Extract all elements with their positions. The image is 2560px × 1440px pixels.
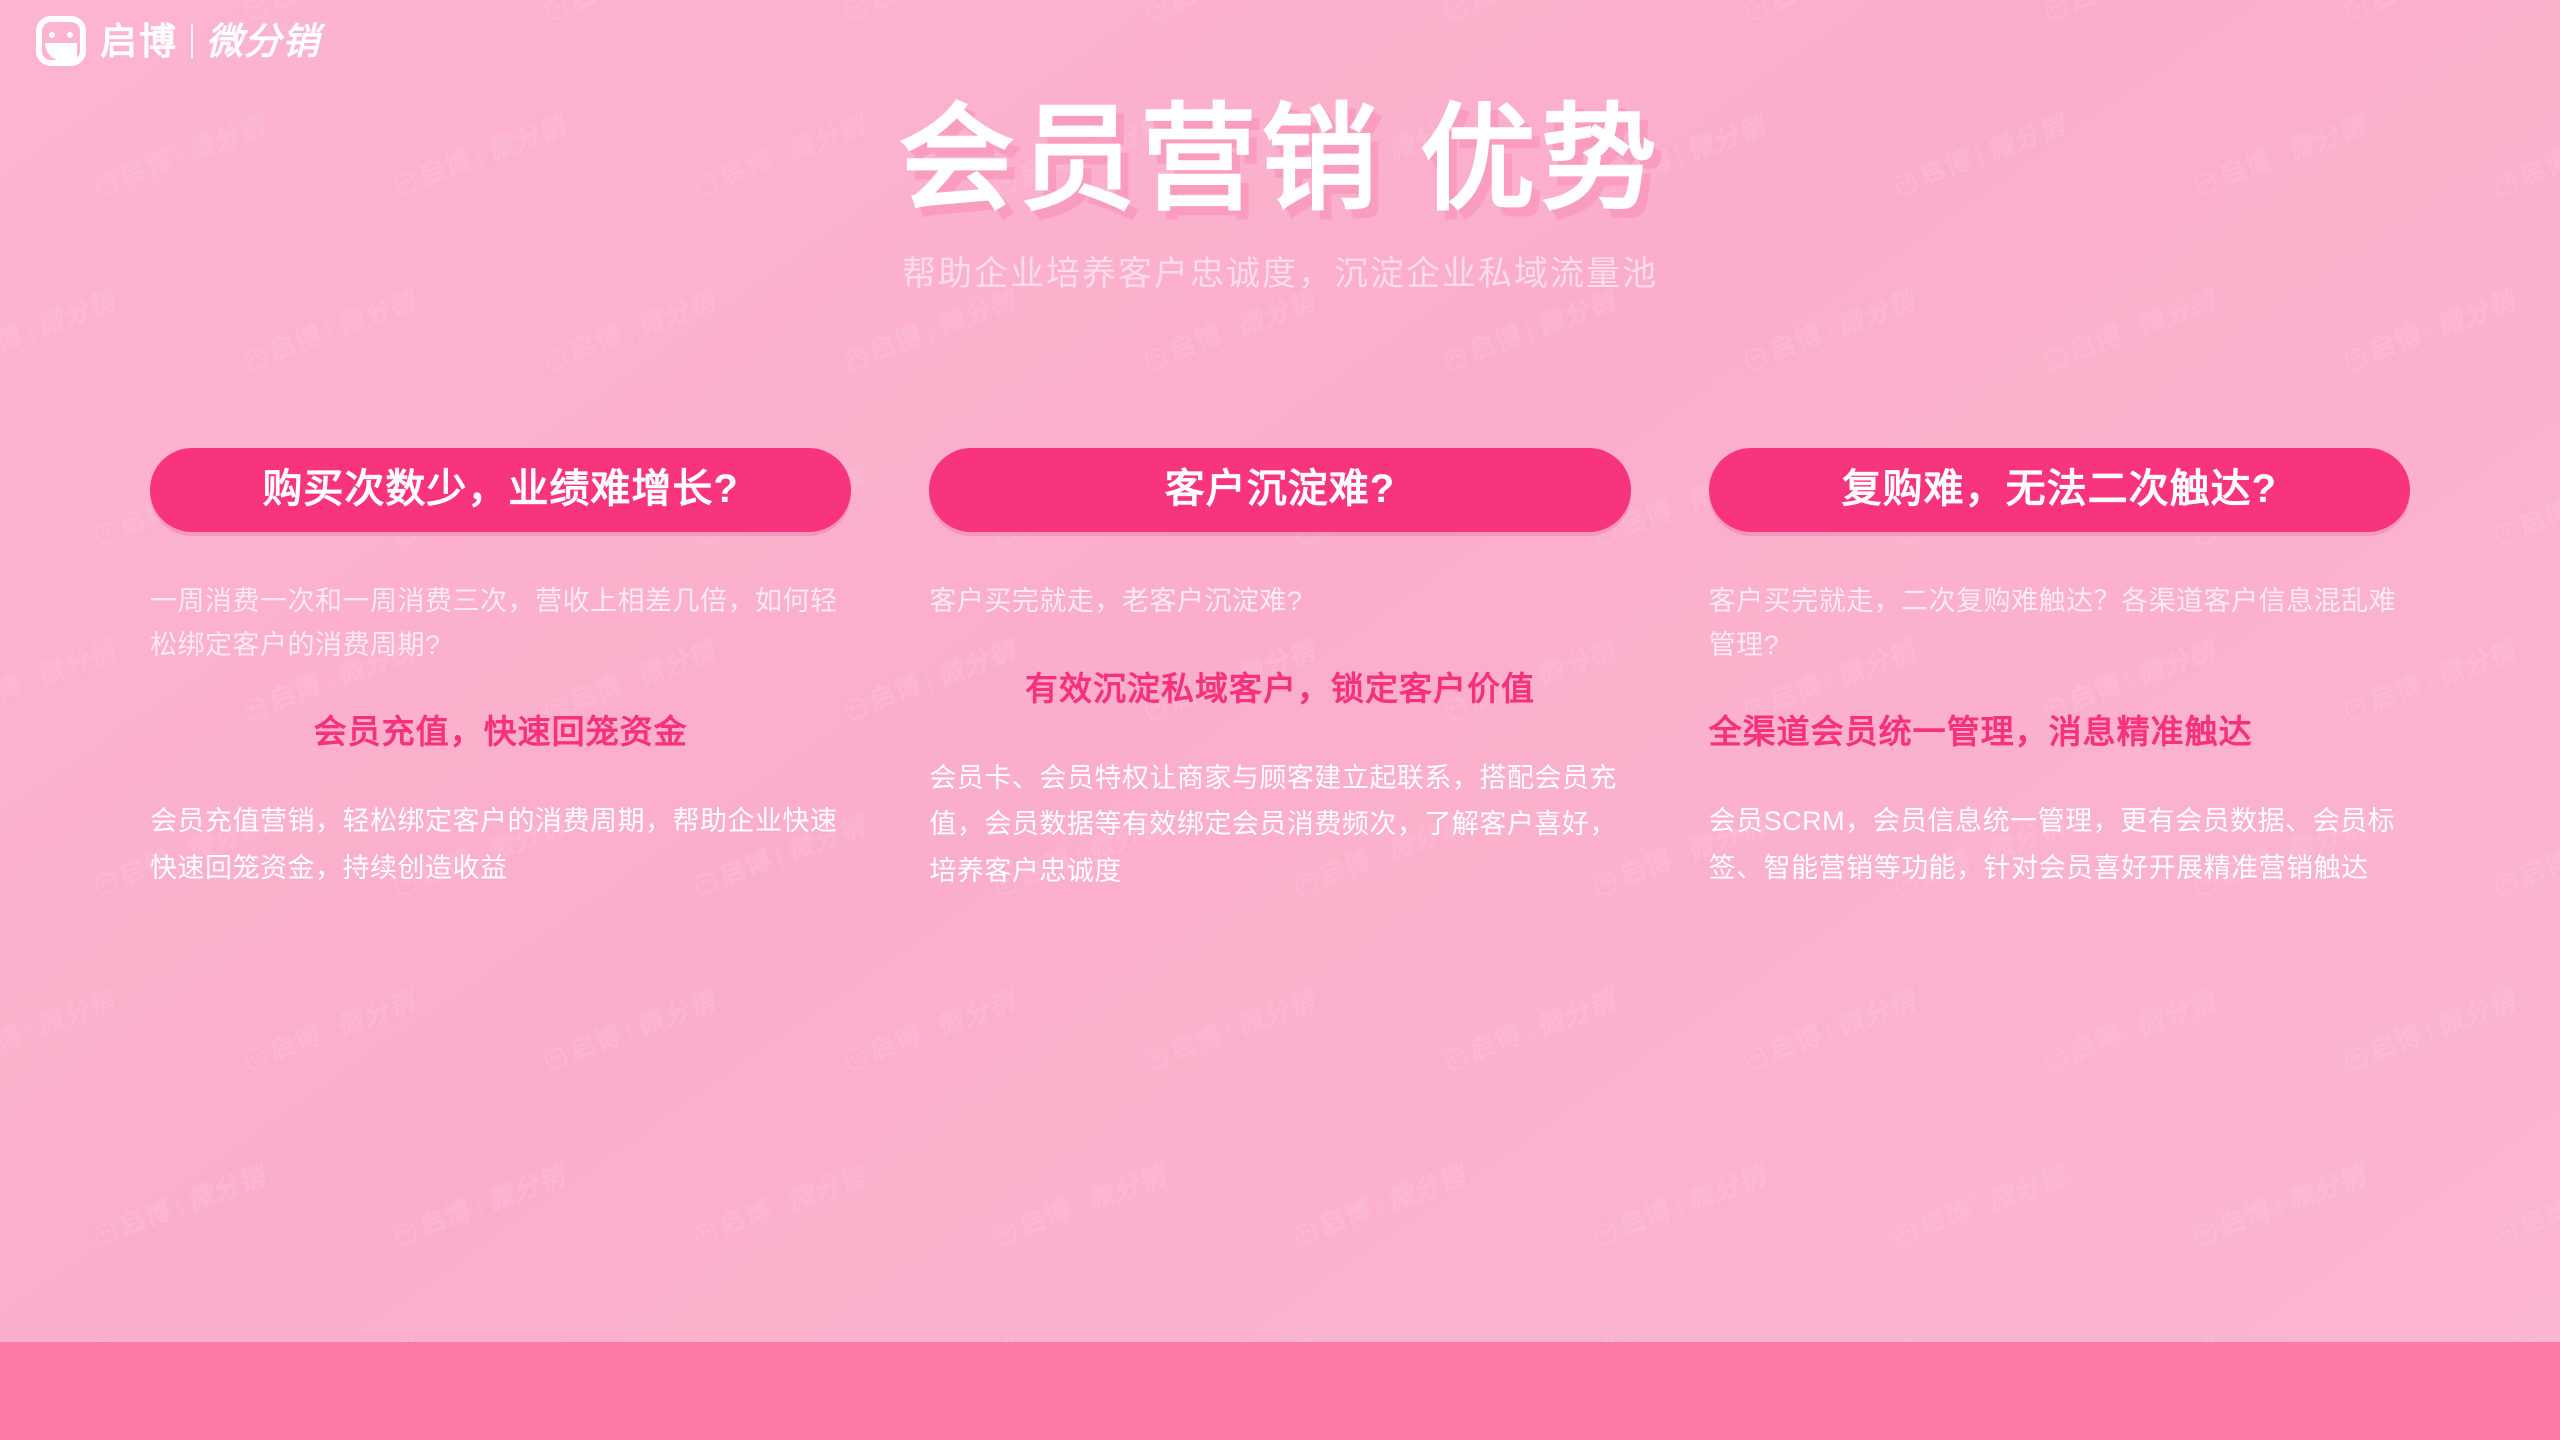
watermark-mark: 启博|微分销 [1439,981,1620,1077]
watermark-brand-name: 启博 [1615,1194,1676,1241]
watermark-product: 微分销 [483,1160,569,1216]
problem-description-2: 客户买完就走，老客户沉淀难? [929,580,1630,624]
watermark-mark: 启博|微分销 [1139,0,1320,26]
watermark-separator: | [171,1190,189,1221]
watermark-mark: 启博|微分销 [239,981,420,1077]
watermark-brand-name: 启博 [715,1194,776,1241]
watermark-smiley-icon [243,1046,269,1072]
feature-column: 购买次数少，业绩难增长? 一周消费一次和一周消费三次，营收上相差几倍，如何轻松绑… [150,448,851,894]
watermark-brand-name: 启博 [1015,1194,1076,1241]
watermark-brand-name: 启博 [0,1019,26,1066]
watermark-product: 微分销 [2133,985,2219,1041]
watermark-separator: | [771,1190,789,1221]
solution-title-2: 有效沉淀私域客户，锁定客户价值 [929,668,1630,711]
watermark-brand-name: 启博 [1165,1019,1226,1066]
watermark-separator: | [1221,1015,1239,1046]
watermark-separator: | [2271,1190,2289,1221]
watermark-smiley-icon [1443,1046,1469,1072]
watermark-smiley-icon [1293,1221,1319,1247]
watermark-product: 微分销 [33,635,119,691]
watermark-smiley-icon [243,346,269,372]
page-title: 会员营销 优势 [0,96,2560,224]
watermark-separator: | [1521,315,1539,346]
watermark-brand-name: 启博 [115,1194,176,1241]
watermark-smiley-icon [1743,346,1769,372]
watermark-mark: 启博|微分销 [689,1156,870,1252]
watermark-separator: | [21,315,39,346]
watermark-brand-name: 启博 [865,1019,926,1066]
watermark-product: 微分销 [2283,1160,2369,1216]
watermark-separator: | [321,315,339,346]
watermark-separator: | [2421,665,2439,696]
watermark-product: 微分销 [1683,1160,1769,1216]
watermark-mark: 启博|微分销 [1739,0,1920,26]
watermark-smiley-icon [2343,346,2369,372]
watermark-smiley-icon [2343,0,2369,22]
watermark-brand-name: 启博 [1465,0,1526,16]
watermark-smiley-icon [693,1221,719,1247]
watermark-separator: | [21,1015,39,1046]
watermark-mark: 启博|微分销 [2489,806,2560,902]
watermark-smiley-icon [93,871,119,897]
watermark-smiley-icon [1143,346,1169,372]
watermark-mark: 启博|微分销 [2339,0,2520,26]
watermark-smiley-icon [2493,521,2519,547]
problem-description-3: 客户买完就走，二次复购难触达？各渠道客户信息混乱难管理? [1709,580,2410,667]
hero-section: 会员营销 优势 帮助企业培养客户忠诚度，沉淀企业私域流量池 [0,96,2560,296]
watermark-mark: 启博|微分销 [539,0,720,26]
watermark-mark: 启博|微分销 [2039,0,2220,26]
eye-left [49,32,55,38]
watermark-brand-name: 启博 [2515,494,2560,541]
watermark-smiley-icon [543,0,569,22]
watermark-separator: | [1521,1015,1539,1046]
watermark-smiley-icon [843,0,869,22]
watermark-product: 微分销 [633,985,719,1041]
watermark-brand-name: 启博 [1765,0,1826,16]
watermark-product: 微分销 [1833,985,1919,1041]
watermark-mark: 启博|微分销 [839,0,1020,26]
watermark-brand-name: 启博 [265,0,326,16]
watermark-brand-name: 启博 [565,1019,626,1066]
watermark-separator: | [1821,1015,1839,1046]
watermark-separator: | [1371,1190,1389,1221]
watermark-smiley-icon [543,1046,569,1072]
smiley-rounded-square-icon [36,16,86,66]
watermark-smiley-icon [2043,0,2069,22]
feature-column: 复购难，无法二次触达? 客户买完就走，二次复购难触达？各渠道客户信息混乱难管理?… [1709,448,2410,894]
watermark-mark: 启博|微分销 [1439,0,1620,26]
smile-shape [45,43,77,61]
watermark-smiley-icon [2493,871,2519,897]
watermark-brand-name: 启博 [0,669,26,716]
watermark-product: 微分销 [1533,985,1619,1041]
watermark-product: 微分销 [333,985,419,1041]
brand-product: 微分销 [206,23,320,60]
watermark-mark: 启博|微分销 [0,981,120,1077]
solution-description-2: 会员卡、会员特权让商家与顾客建立起联系，搭配会员充值，会员数据等有效绑定会员消费… [929,755,1630,894]
solution-description-3: 会员SCRM，会员信息统一管理，更有会员数据、会员标签、智能营销等功能，针对会员… [1709,798,2410,891]
problem-pill-2[interactable]: 客户沉淀难? [929,448,1630,532]
watermark-smiley-icon [543,346,569,372]
watermark-mark: 启博|微分销 [2339,981,2520,1077]
watermark-separator: | [1221,315,1239,346]
feature-column: 客户沉淀难? 客户买完就走，老客户沉淀难? 有效沉淀私域客户，锁定客户价值 会员… [929,448,1630,894]
watermark-mark: 启博|微分销 [2189,1156,2370,1252]
watermark-product: 微分销 [183,1160,269,1216]
watermark-brand-name: 启博 [865,0,926,16]
watermark-product: 微分销 [1983,1160,2069,1216]
watermark-brand-name: 启博 [565,0,626,16]
watermark-separator: | [1671,1190,1689,1221]
watermark-smiley-icon [1443,346,1469,372]
watermark-smiley-icon [93,1221,119,1247]
watermark-mark: 启博|微分销 [389,1156,570,1252]
watermark-separator: | [1071,1190,1089,1221]
watermark-smiley-icon [393,1221,419,1247]
watermark-mark: 启博|微分销 [989,1156,1170,1252]
watermark-mark: 启博|微分销 [1739,981,1920,1077]
watermark-smiley-icon [1743,1046,1769,1072]
watermark-mark: 启博|微分销 [2039,981,2220,1077]
watermark-brand-name: 启博 [1465,319,1526,366]
solution-title-3: 全渠道会员统一管理，消息精准触达 [1709,711,2410,754]
brand-logo[interactable]: 启博 微分销 [36,16,320,66]
watermark-smiley-icon [2043,346,2069,372]
bottom-strip [0,1342,2560,1440]
brand-wordmark: 启博 微分销 [100,23,320,60]
watermark-smiley-icon [1443,0,1469,22]
watermark-product: 微分销 [933,985,1019,1041]
watermark-brand-name: 启博 [2065,319,2126,366]
watermark-separator: | [921,1015,939,1046]
watermark-mark: 启博|微分销 [0,631,120,727]
watermark-brand-name: 启博 [565,319,626,366]
page-background: 启博|微分销启博|微分销启博|微分销启博|微分销启博|微分销启博|微分销启博|微… [0,0,2560,1440]
watermark-smiley-icon [2043,1046,2069,1072]
logo-divider [191,24,193,58]
watermark-brand-name: 启博 [2515,1194,2560,1241]
watermark-mark: 启博|微分销 [839,981,1020,1077]
watermark-smiley-icon [2343,1046,2369,1072]
watermark-brand-name: 启博 [265,1019,326,1066]
watermark-separator: | [2421,1015,2439,1046]
watermark-mark: 启博|微分销 [1589,1156,1770,1252]
watermark-smiley-icon [1743,0,1769,22]
watermark-brand-name: 启博 [865,319,926,366]
watermark-mark: 启博|微分销 [539,981,720,1077]
watermark-smiley-icon [93,521,119,547]
watermark-smiley-icon [2493,1221,2519,1247]
watermark-brand-name: 启博 [415,1194,476,1241]
solution-description-1: 会员充值营销，轻松绑定客户的消费周期，帮助企业快速快速回笼资金，持续创造收益 [150,798,851,891]
problem-pill-1[interactable]: 购买次数少，业绩难增长? [150,448,851,532]
watermark-brand-name: 启博 [2215,1194,2276,1241]
watermark-brand-name: 启博 [265,319,326,366]
watermark-mark: 启博|微分销 [1889,1156,2070,1252]
watermark-smiley-icon [993,1221,1019,1247]
watermark-mark: 启博|微分销 [1139,981,1320,1077]
watermark-separator: | [621,315,639,346]
problem-description-1: 一周消费一次和一周消费三次，营收上相差几倍，如何轻松绑定客户的消费周期? [150,580,851,667]
watermark-mark: 启博|微分销 [89,1156,270,1252]
watermark-brand-name: 启博 [2365,1019,2426,1066]
watermark-product: 微分销 [1233,985,1319,1041]
watermark-separator: | [1971,1190,1989,1221]
watermark-brand-name: 启博 [1465,1019,1526,1066]
watermark-separator: | [321,1015,339,1046]
watermark-separator: | [2121,315,2139,346]
watermark-brand-name: 启博 [2515,844,2560,891]
watermark-brand-name: 启博 [2065,1019,2126,1066]
watermark-smiley-icon [843,346,869,372]
watermark-brand-name: 启博 [1765,1019,1826,1066]
page-subtitle: 帮助企业培养客户忠诚度，沉淀企业私域流量池 [0,252,2560,296]
watermark-separator: | [21,665,39,696]
watermark-mark: 启博|微分销 [2489,1156,2560,1252]
watermark-mark: 启博|微分销 [1289,1156,1470,1252]
watermark-brand-name: 启博 [1165,0,1226,16]
watermark-brand-name: 启博 [1165,319,1226,366]
watermark-product: 微分销 [1383,1160,1469,1216]
watermark-smiley-icon [1893,1221,1919,1247]
watermark-separator: | [921,315,939,346]
watermark-brand-name: 启博 [1765,319,1826,366]
watermark-smiley-icon [2193,1221,2219,1247]
watermark-product: 微分销 [2433,635,2519,691]
watermark-brand-name: 启博 [1315,1194,1376,1241]
watermark-separator: | [2121,1015,2139,1046]
brand-name: 启博 [100,23,178,60]
watermark-brand-name: 启博 [0,319,26,366]
watermark-separator: | [621,1015,639,1046]
watermark-brand-name: 启博 [0,0,26,16]
watermark-brand-name: 启博 [2365,0,2426,16]
watermark-product: 微分销 [33,985,119,1041]
watermark-smiley-icon [1593,1221,1619,1247]
watermark-smiley-icon [843,1046,869,1072]
watermark-brand-name: 启博 [2365,319,2426,366]
watermark-product: 微分销 [1083,1160,1169,1216]
feature-columns: 购买次数少，业绩难增长? 一周消费一次和一周消费三次，营收上相差几倍，如何轻松绑… [150,448,2410,894]
problem-pill-3[interactable]: 复购难，无法二次触达? [1709,448,2410,532]
watermark-smiley-icon [1143,0,1169,22]
watermark-product: 微分销 [783,1160,869,1216]
watermark-separator: | [2421,315,2439,346]
eye-right [67,32,73,38]
watermark-mark: 启博|微分销 [2489,456,2560,552]
watermark-brand-name: 启博 [1915,1194,1976,1241]
watermark-brand-name: 启博 [2065,0,2126,16]
watermark-smiley-icon [1143,1046,1169,1072]
watermark-separator: | [1821,315,1839,346]
solution-title-1: 会员充值，快速回笼资金 [150,711,851,754]
watermark-product: 微分销 [2433,985,2519,1041]
watermark-separator: | [471,1190,489,1221]
